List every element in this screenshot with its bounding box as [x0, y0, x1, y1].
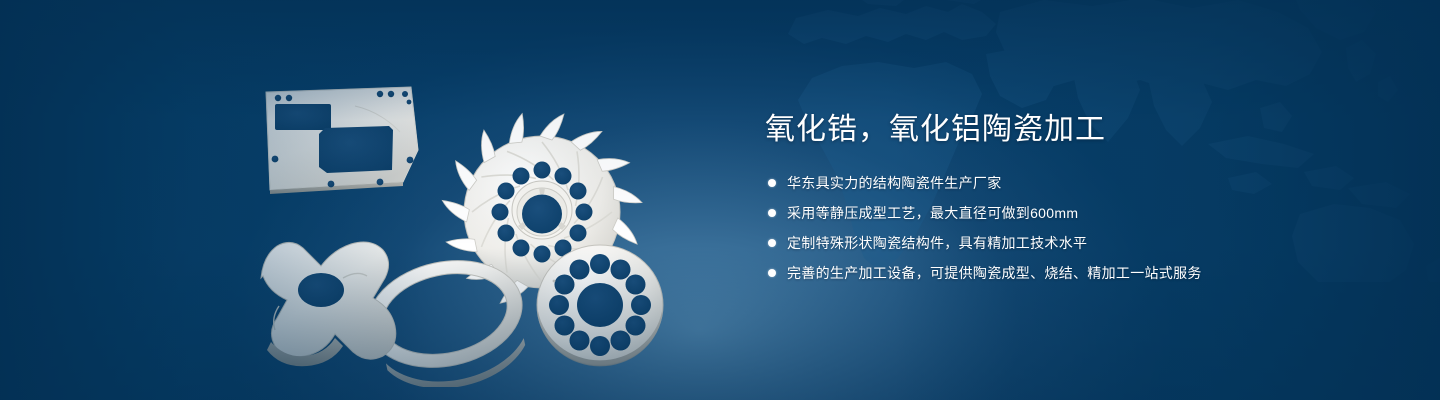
bullet-dot-icon	[768, 179, 776, 187]
banner-headline: 氧化锆，氧化铝陶瓷加工	[765, 110, 1385, 150]
feature-list: 华东具实力的结构陶瓷件生产厂家 采用等静压成型工艺，最大直径可做到600mm 定…	[765, 172, 1385, 284]
banner-copy: 氧化锆，氧化铝陶瓷加工 华东具实力的结构陶瓷件生产厂家 采用等静压成型工艺，最大…	[765, 110, 1385, 292]
feature-text: 完善的生产加工设备，可提供陶瓷成型、烧结、精加工一站式服务	[787, 262, 1202, 284]
bullet-dot-icon	[768, 269, 776, 277]
feature-text: 华东具实力的结构陶瓷件生产厂家	[787, 172, 1002, 194]
list-item: 采用等静压成型工艺，最大直径可做到600mm	[765, 202, 1385, 224]
feature-text: 定制特殊形状陶瓷结构件，具有精加工技术水平	[787, 232, 1087, 254]
bullet-dot-icon	[768, 239, 776, 247]
list-item: 定制特殊形状陶瓷结构件，具有精加工技术水平	[765, 232, 1385, 254]
hero-banner: 氧化锆，氧化铝陶瓷加工 华东具实力的结构陶瓷件生产厂家 采用等静压成型工艺，最大…	[0, 0, 1440, 400]
list-item: 华东具实力的结构陶瓷件生产厂家	[765, 172, 1385, 194]
list-item: 完善的生产加工设备，可提供陶瓷成型、烧结、精加工一站式服务	[765, 262, 1385, 284]
feature-text: 采用等静压成型工艺，最大直径可做到600mm	[787, 202, 1078, 224]
bullet-dot-icon	[768, 209, 776, 217]
